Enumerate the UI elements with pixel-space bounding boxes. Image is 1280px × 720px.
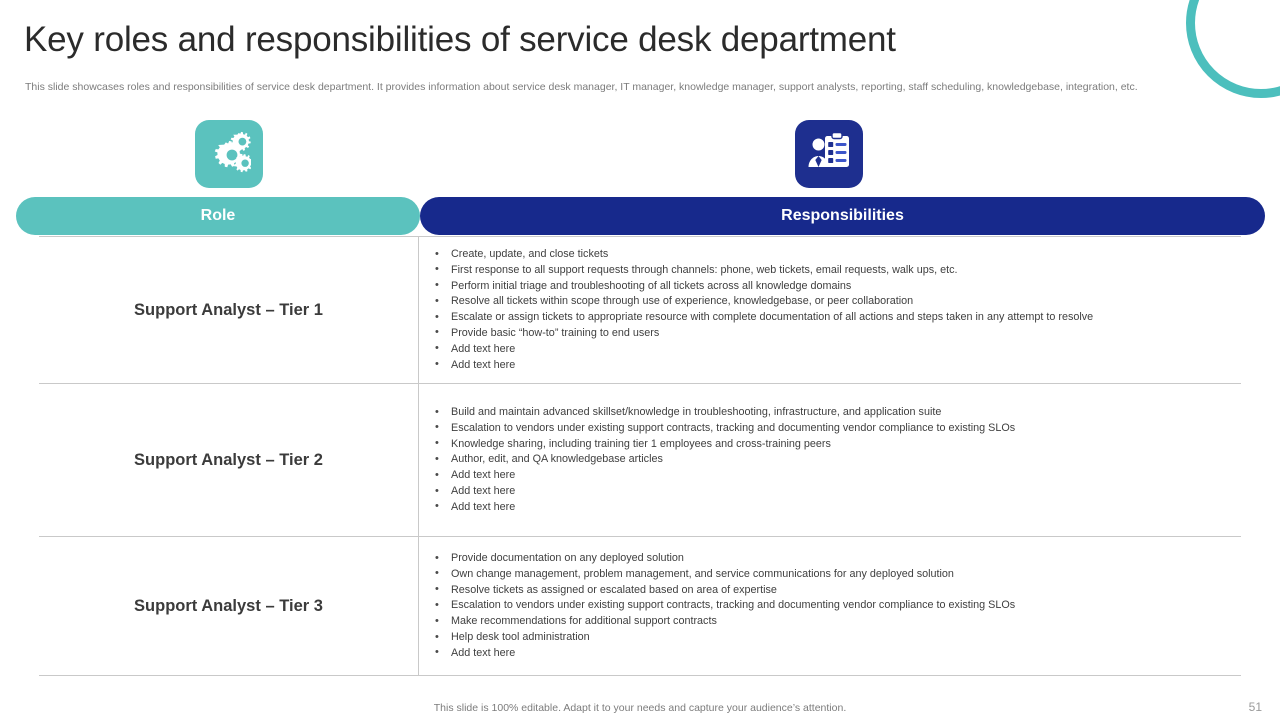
table-row: Support Analyst – Tier 1 Create, update,… bbox=[39, 237, 1241, 384]
list-item: Escalation to vendors under existing sup… bbox=[427, 598, 1227, 614]
slide-subtitle: This slide showcases roles and responsib… bbox=[25, 80, 1220, 94]
list-item: Add text here bbox=[427, 484, 1227, 500]
table-header-responsibilities-label: Responsibilities bbox=[781, 207, 904, 225]
responsibility-list: Create, update, and close tickets First … bbox=[427, 247, 1227, 373]
role-cell: Support Analyst – Tier 2 bbox=[39, 384, 419, 536]
list-item: Build and maintain advanced skillset/kno… bbox=[427, 405, 1227, 421]
roles-responsibilities-table: Support Analyst – Tier 1 Create, update,… bbox=[39, 236, 1241, 676]
list-item: Add text here bbox=[427, 646, 1227, 662]
footer-note: This slide is 100% editable. Adapt it to… bbox=[0, 702, 1280, 714]
responsibilities-cell: Build and maintain advanced skillset/kno… bbox=[419, 384, 1241, 536]
list-item: Resolve all tickets within scope through… bbox=[427, 294, 1227, 310]
table-header-responsibilities: Responsibilities bbox=[420, 197, 1265, 235]
responsibility-list: Build and maintain advanced skillset/kno… bbox=[427, 405, 1227, 516]
list-item: Knowledge sharing, including training ti… bbox=[427, 437, 1227, 453]
responsibilities-cell: Provide documentation on any deployed so… bbox=[419, 537, 1241, 675]
list-item: Help desk tool administration bbox=[427, 630, 1227, 646]
list-item: Provide documentation on any deployed so… bbox=[427, 551, 1227, 567]
list-item: Own change management, problem managemen… bbox=[427, 567, 1227, 583]
list-item: Make recommendations for additional supp… bbox=[427, 614, 1227, 630]
responsibilities-cell: Create, update, and close tickets First … bbox=[419, 237, 1241, 383]
table-header-role-label: Role bbox=[201, 207, 236, 225]
list-item: Add text here bbox=[427, 358, 1227, 374]
list-item: Escalate or assign tickets to appropriat… bbox=[427, 310, 1227, 326]
list-item: Resolve tickets as assigned or escalated… bbox=[427, 583, 1227, 599]
role-cell: Support Analyst – Tier 3 bbox=[39, 537, 419, 675]
list-item: Add text here bbox=[427, 342, 1227, 358]
list-item: Create, update, and close tickets bbox=[427, 247, 1227, 263]
responsibilities-icon-tile bbox=[795, 120, 863, 188]
list-item: Provide basic “how-to” training to end u… bbox=[427, 326, 1227, 342]
person-clipboard-checklist-icon bbox=[806, 129, 852, 180]
table-row: Support Analyst – Tier 3 Provide documen… bbox=[39, 537, 1241, 675]
list-item: Add text here bbox=[427, 468, 1227, 484]
page-number: 51 bbox=[1249, 700, 1262, 714]
role-cell: Support Analyst – Tier 1 bbox=[39, 237, 419, 383]
table-header-role: Role bbox=[16, 197, 420, 235]
list-item: First response to all support requests t… bbox=[427, 263, 1227, 279]
slide-canvas: Key roles and responsibilities of servic… bbox=[0, 0, 1280, 720]
list-item: Escalation to vendors under existing sup… bbox=[427, 421, 1227, 437]
page-title: Key roles and responsibilities of servic… bbox=[24, 18, 896, 62]
gears-icon bbox=[207, 130, 251, 179]
list-item: Perform initial triage and troubleshooti… bbox=[427, 279, 1227, 295]
role-icon-tile bbox=[195, 120, 263, 188]
list-item: Author, edit, and QA knowledgebase artic… bbox=[427, 452, 1227, 468]
table-row: Support Analyst – Tier 2 Build and maint… bbox=[39, 384, 1241, 537]
responsibility-list: Provide documentation on any deployed so… bbox=[427, 551, 1227, 662]
list-item: Add text here bbox=[427, 500, 1227, 516]
